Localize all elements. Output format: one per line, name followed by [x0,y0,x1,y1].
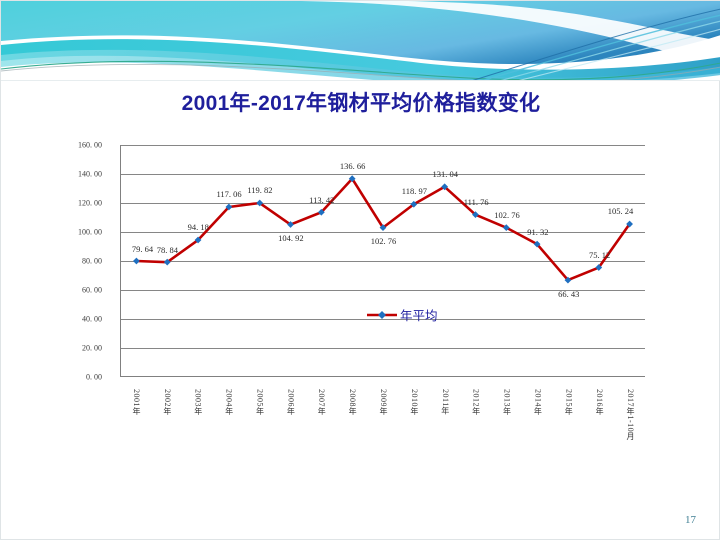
x-axis-tick-label: 2016年 [594,389,605,416]
x-axis-tick-label: 2001年 [131,389,142,416]
x-axis-tick-label: 2002年 [162,389,173,416]
series-line-annual-average [121,145,645,376]
y-axis-tick-label: 40. 00 [0,315,102,324]
page-number: 17 [685,514,696,526]
chart-legend: 年平均 [367,305,438,324]
x-axis-tick-label: 2014年 [532,389,543,416]
x-axis-tick-label: 2013年 [502,389,513,416]
line-chart: 0. 0020. 0040. 0060. 0080. 00100. 00120.… [85,139,645,439]
legend-label: 年平均 [400,305,438,324]
presentation-slide: 2001年-2017年钢材平均价格指数变化 0. 0020. 0040. 006… [0,0,720,540]
x-axis-tick-label: 2008年 [347,389,358,416]
y-axis-tick-label: 120. 00 [0,199,102,208]
chart-plot-area: 0. 0020. 0040. 0060. 0080. 00100. 00120.… [120,145,645,377]
x-axis-tick-label: 2017年1-10月 [625,389,636,441]
x-axis-tick-label: 2011年 [440,389,451,415]
y-axis-tick-label: 20. 00 [0,344,102,353]
x-axis-tick-label: 2004年 [224,389,235,416]
x-axis-tick-label: 2006年 [285,389,296,416]
wave-graphic [1,1,720,81]
y-axis-tick-label: 100. 00 [0,228,102,237]
x-axis-tick-label: 2015年 [563,389,574,416]
x-axis-tick-label: 2009年 [378,389,389,416]
y-axis-tick-label: 80. 00 [0,257,102,266]
legend-marker-icon [367,309,397,321]
x-axis-tick-label: 2010年 [409,389,420,416]
x-axis-tick-label: 2012年 [471,389,482,416]
y-axis-tick-label: 60. 00 [0,286,102,295]
x-axis-tick-label: 2007年 [316,389,327,416]
y-axis-tick-label: 0. 00 [0,373,102,382]
slide-title: 2001年-2017年钢材平均价格指数变化 [1,87,720,117]
x-axis-tick-label: 2005年 [254,389,265,416]
y-axis-tick-label: 140. 00 [0,170,102,179]
x-axis-tick-label: 2003年 [193,389,204,416]
data-point-marker [133,258,140,265]
slide-banner-decoration [1,1,720,81]
y-axis-tick-label: 160. 00 [0,141,102,150]
